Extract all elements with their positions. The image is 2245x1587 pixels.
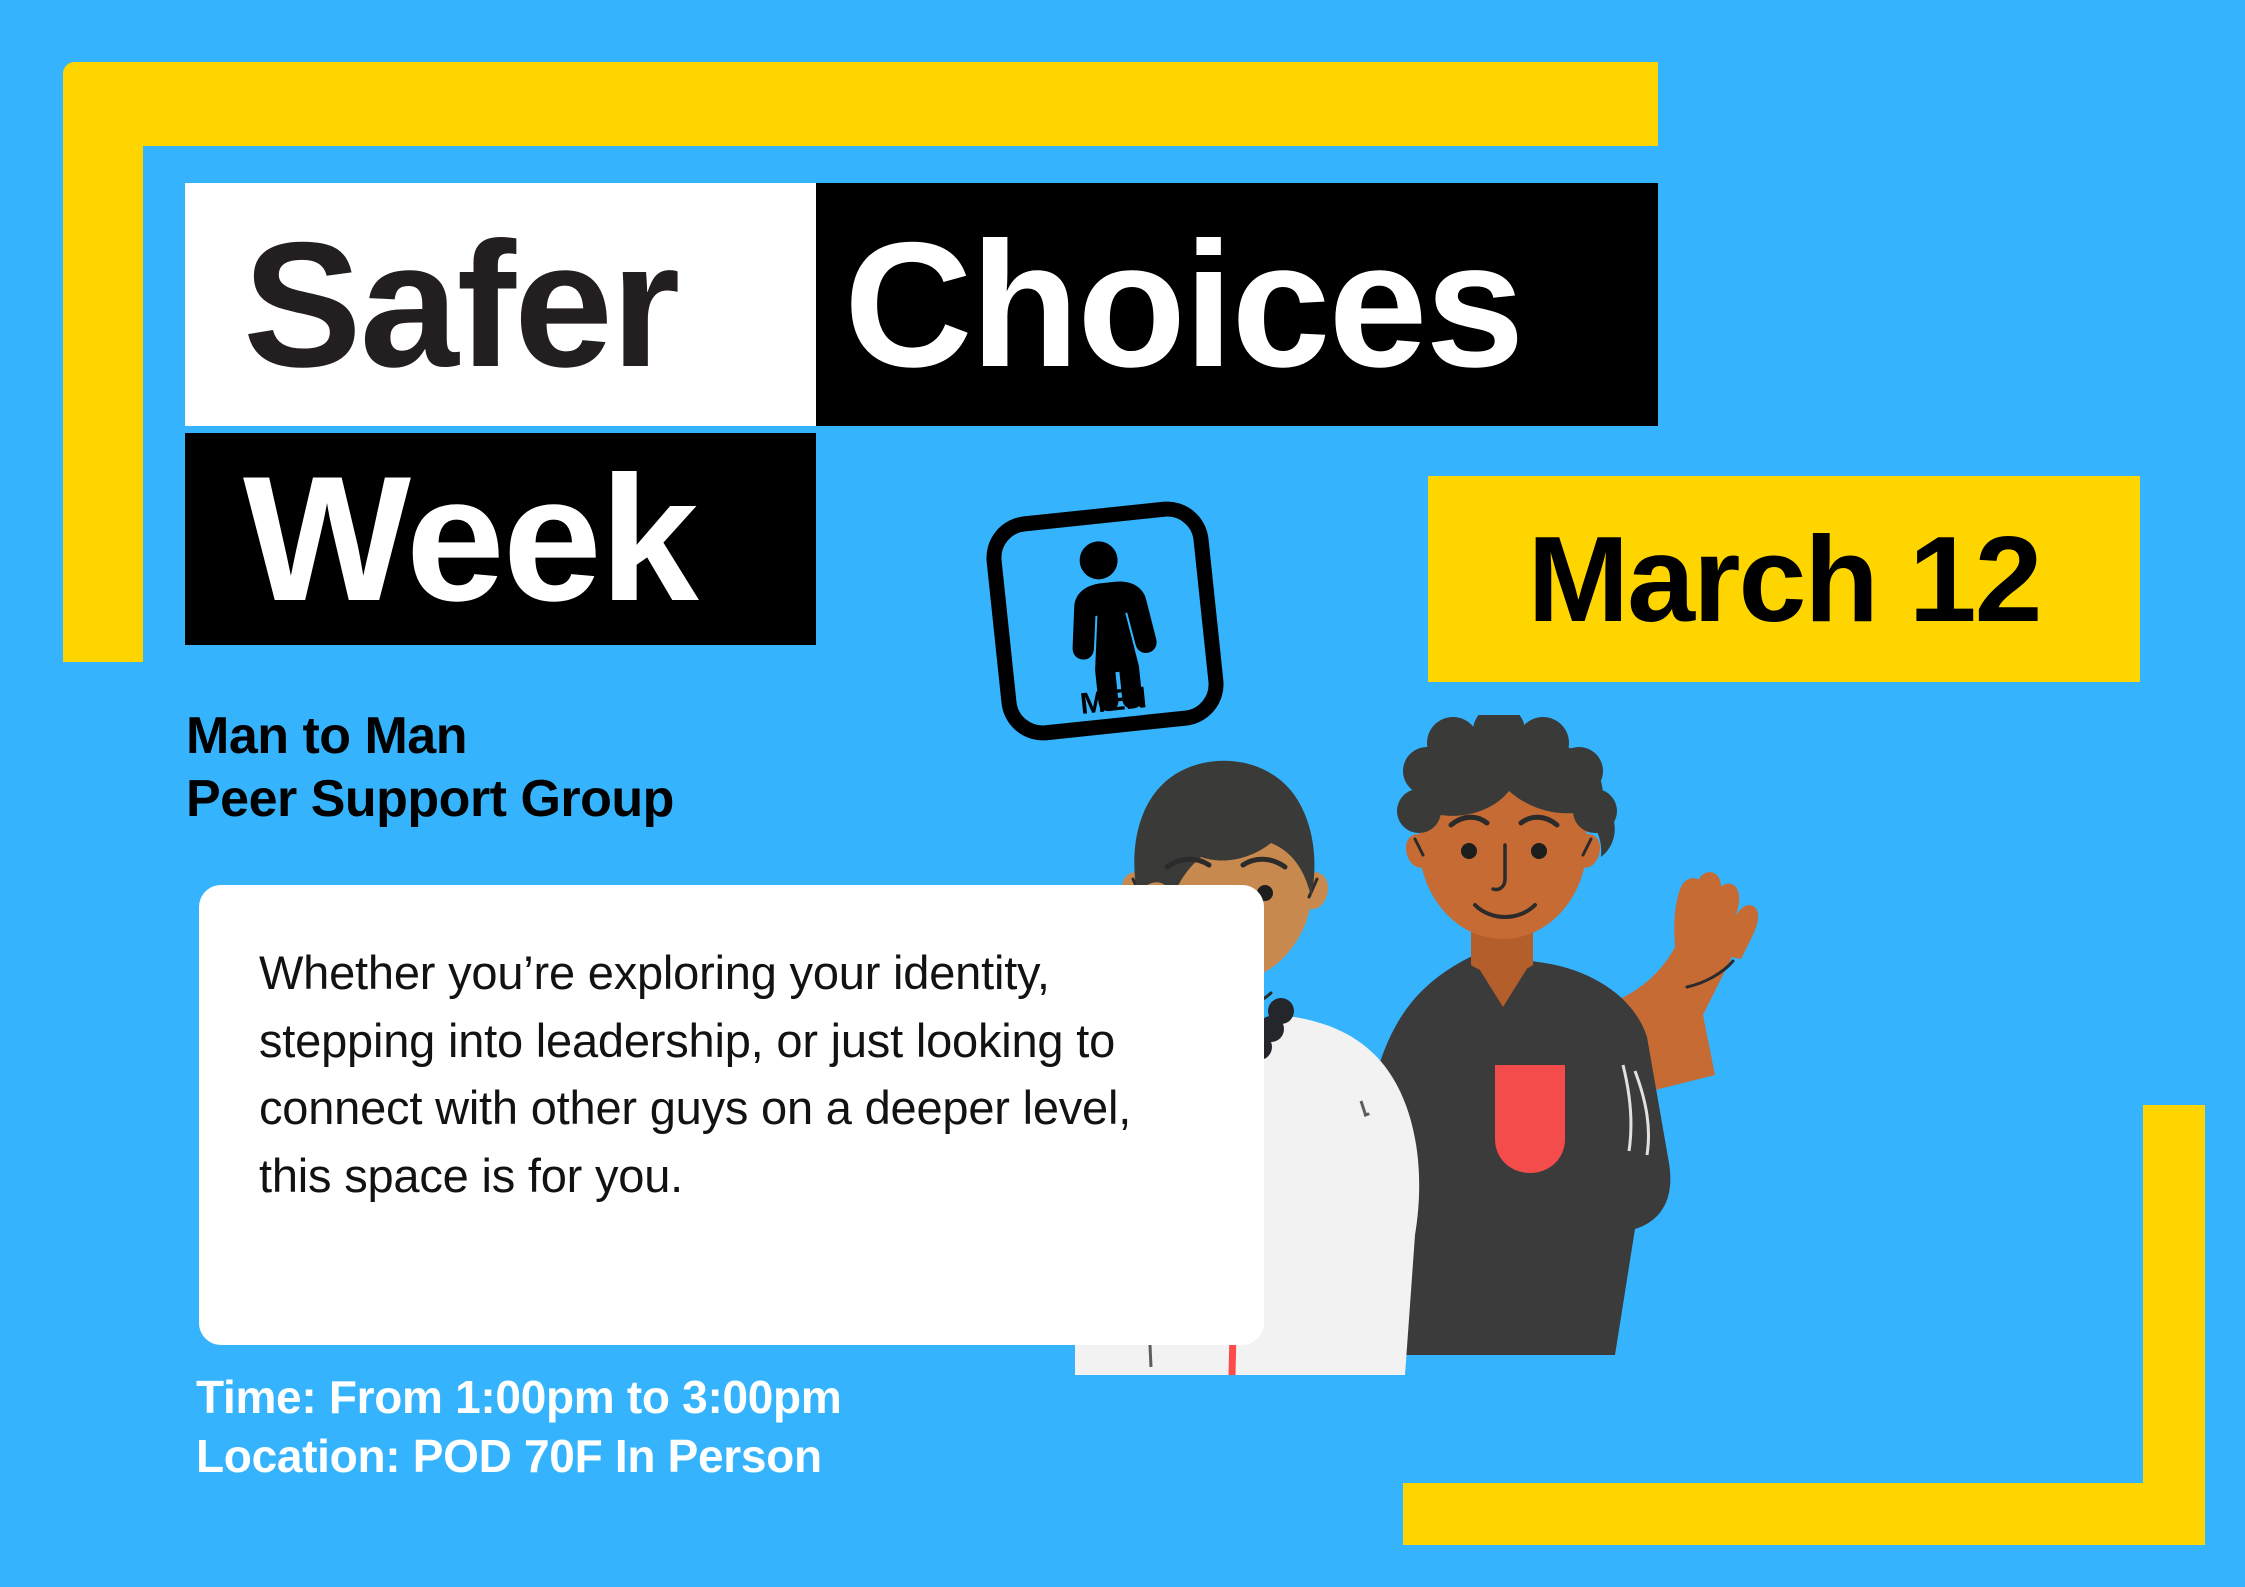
date-badge: March 12 xyxy=(1428,476,2140,682)
date-badge-label: March 12 xyxy=(1528,518,2041,640)
title-row-one: Safer Choices xyxy=(185,183,1658,426)
event-details-block: Time: From 1:00pm to 3:00pm Location: PO… xyxy=(196,1368,841,1486)
poster-canvas: Safer Choices Week MEN March 12 Man to M… xyxy=(0,0,2245,1587)
men-restroom-sign: MEN xyxy=(979,494,1232,749)
yellow-bracket-bottom-horizontal xyxy=(1403,1483,2205,1545)
right-person-pocket xyxy=(1495,1065,1565,1173)
subtitle-line-1: Man to Man xyxy=(186,705,674,768)
subtitle-line-2: Peer Support Group xyxy=(186,768,674,831)
male-restroom-icon: MEN xyxy=(979,494,1232,749)
title-word-safer: Safer xyxy=(185,183,816,426)
title-word-week: Week xyxy=(185,433,816,645)
yellow-bracket-bottom-vertical xyxy=(2143,1105,2205,1545)
description-card: Whether you’re exploring your identity, … xyxy=(199,885,1264,1345)
yellow-bracket-top-horizontal xyxy=(63,62,1658,146)
yellow-bracket-top-vertical xyxy=(63,62,143,662)
description-text: Whether you’re exploring your identity, … xyxy=(199,885,1264,1210)
event-location: Location: POD 70F In Person xyxy=(196,1427,841,1486)
title-word-choices: Choices xyxy=(816,183,1658,426)
subtitle-block: Man to Man Peer Support Group xyxy=(186,705,674,832)
event-time: Time: From 1:00pm to 3:00pm xyxy=(196,1368,841,1427)
